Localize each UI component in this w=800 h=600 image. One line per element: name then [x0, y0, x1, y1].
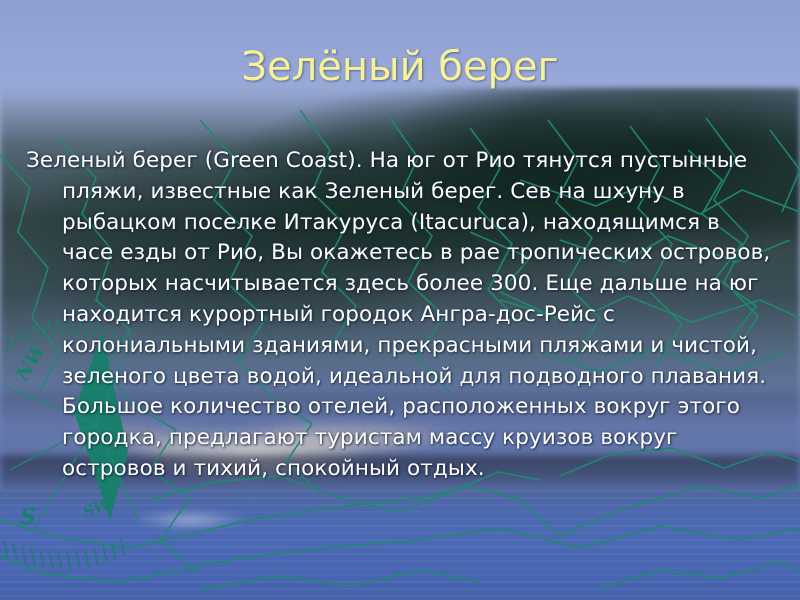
slide-body: Зеленый берег (Green Coast). На юг от Ри…: [26, 146, 774, 485]
body-paragraph: Зеленый берег (Green Coast). На юг от Ри…: [26, 146, 774, 485]
background-water-reflection: [0, 498, 800, 548]
presentation-slide: NW S SW Зелёный берег Зеленый берег (Gre…: [0, 0, 800, 600]
slide-title: Зелёный берег: [0, 44, 800, 90]
